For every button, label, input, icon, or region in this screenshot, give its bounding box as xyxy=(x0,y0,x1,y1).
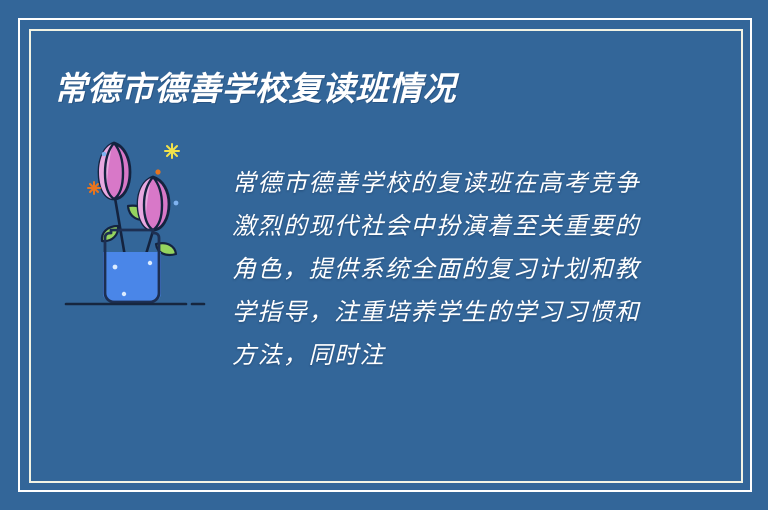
dot-blue-upper xyxy=(102,152,107,157)
tulips-in-vase-illustration xyxy=(58,134,218,314)
water-bubble-2 xyxy=(148,261,152,265)
glass-vase xyxy=(103,230,161,302)
water-fill xyxy=(103,252,161,302)
water-bubble-3 xyxy=(122,292,126,296)
poster-canvas: 常德市德善学校复读班情况 xyxy=(0,0,768,510)
tulip-flower-left xyxy=(99,143,130,199)
water-bubble-1 xyxy=(113,265,118,270)
page-title: 常德市德善学校复读班情况 xyxy=(54,62,456,110)
sparkle-star-orange xyxy=(88,182,100,194)
sparkle-star-yellow xyxy=(165,144,179,158)
article-paragraph: 常德市德善学校的复读班在高考竞争激烈的现代社会中扮演着至关重要的角色，提供系统全… xyxy=(232,162,652,377)
dot-blue-right xyxy=(174,201,179,206)
dot-orange xyxy=(155,169,160,174)
tulip-flower-right xyxy=(138,177,169,230)
